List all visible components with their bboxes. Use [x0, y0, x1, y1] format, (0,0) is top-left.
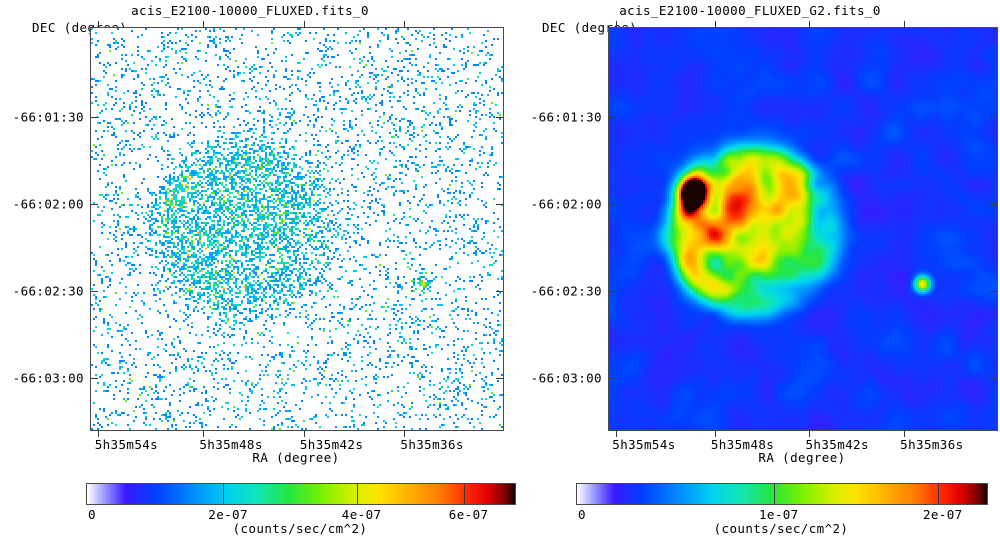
panel-right-colorbar-unit: (counts/sec/cm^2)	[576, 521, 986, 536]
y-tick-mark	[91, 117, 98, 118]
y-tick-mark	[91, 291, 98, 292]
colorbar-divider	[223, 484, 224, 504]
panel-left-colorbar-gradient	[87, 484, 515, 504]
x-tick-mark	[404, 430, 405, 437]
x-tick-mark-top	[715, 21, 716, 28]
x-tick-mark-top	[809, 21, 810, 28]
x-tick-mark	[904, 430, 905, 437]
y-tick-label: -66:03:00	[10, 370, 84, 385]
x-tick-mark	[809, 430, 810, 437]
panel-left: acis_E2100-10000_FLUXED.fits_0 DEC (degr…	[0, 0, 500, 549]
y-tick-mark-right	[990, 291, 997, 292]
panel-right-image-frame[interactable]	[608, 27, 998, 431]
y-tick-mark	[609, 117, 616, 118]
panel-right-sky-image	[609, 28, 997, 430]
y-tick-mark	[609, 378, 616, 379]
y-tick-label: -66:01:30	[10, 110, 84, 125]
panel-left-title: acis_E2100-10000_FLUXED.fits_0	[0, 3, 500, 18]
x-tick-mark-top	[404, 21, 405, 28]
colorbar-tick-label: 6e-07	[449, 507, 489, 522]
panel-right-canvas-box	[609, 28, 997, 430]
panel-right-colorbar-gradient	[577, 484, 987, 504]
colorbar-tick-label: 4e-07	[342, 507, 382, 522]
x-tick-mark	[616, 430, 617, 437]
colorbar-divider	[357, 484, 358, 504]
x-tick-mark-top	[98, 21, 99, 28]
y-tick-label: -66:01:30	[528, 110, 602, 125]
colorbar-divider	[464, 484, 465, 504]
y-tick-label: -66:02:30	[10, 283, 84, 298]
x-tick-mark	[715, 430, 716, 437]
panel-left-image-frame[interactable]	[90, 27, 504, 431]
panel-right-colorbar[interactable]	[576, 483, 988, 505]
colorbar-tick-label: 0	[578, 507, 586, 522]
x-tick-mark-top	[203, 21, 204, 28]
colorbar-tick-label: 0	[88, 507, 96, 522]
y-tick-mark	[91, 378, 98, 379]
panel-left-ra-axis-label: RA (degree)	[90, 450, 502, 465]
y-tick-mark	[91, 204, 98, 205]
panel-left-colorbar[interactable]	[86, 483, 516, 505]
panel-right-title: acis_E2100-10000_FLUXED_G2.fits_0	[500, 3, 1000, 18]
x-tick-mark-top	[304, 21, 305, 28]
y-tick-label: -66:02:00	[528, 196, 602, 211]
y-tick-label: -66:02:30	[528, 283, 602, 298]
colorbar-tick-label: 2e-07	[923, 507, 963, 522]
y-tick-mark	[609, 204, 616, 205]
x-tick-mark-top	[616, 21, 617, 28]
x-tick-mark	[98, 430, 99, 437]
y-tick-mark	[609, 291, 616, 292]
colorbar-divider	[938, 484, 939, 504]
y-tick-mark-right	[990, 204, 997, 205]
y-tick-label: -66:03:00	[528, 370, 602, 385]
panel-right-ra-axis-label: RA (degree)	[608, 450, 996, 465]
colorbar-divider	[774, 484, 775, 504]
panel-left-colorbar-unit: (counts/sec/cm^2)	[86, 521, 514, 536]
panel-left-sky-image	[91, 28, 503, 430]
panel-left-canvas-box	[91, 28, 503, 430]
x-tick-mark	[203, 430, 204, 437]
panel-right: acis_E2100-10000_FLUXED_G2.fits_0 DEC (d…	[500, 0, 1000, 549]
figure-root: acis_E2100-10000_FLUXED.fits_0 DEC (degr…	[0, 0, 1000, 549]
y-tick-label: -66:02:00	[10, 196, 84, 211]
colorbar-tick-label: 1e-07	[759, 507, 799, 522]
x-tick-mark	[304, 430, 305, 437]
y-tick-mark-right	[990, 378, 997, 379]
colorbar-tick-label: 2e-07	[208, 507, 248, 522]
y-tick-mark-right	[990, 117, 997, 118]
x-tick-mark-top	[904, 21, 905, 28]
